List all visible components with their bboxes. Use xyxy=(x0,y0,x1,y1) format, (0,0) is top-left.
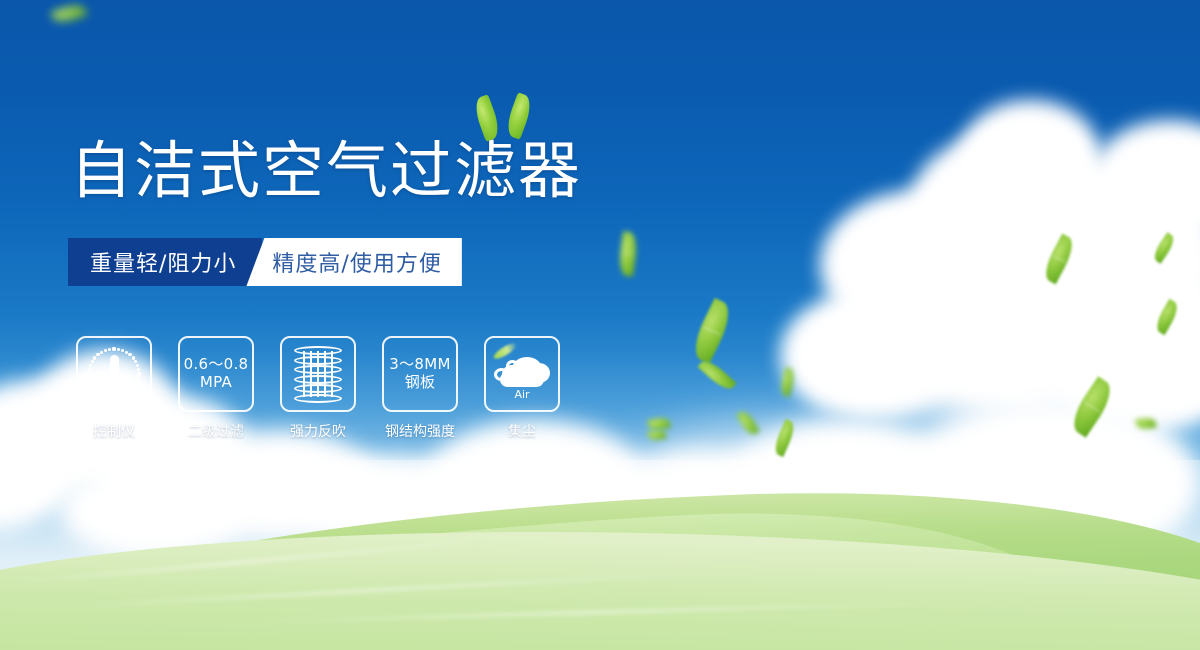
air-label: Air xyxy=(494,388,550,401)
feature-item-dust[interactable]: Air 集尘 xyxy=(484,336,560,441)
air-cloud-icon: Air xyxy=(484,336,560,412)
feature-item-control[interactable]: NO OFF 控制仪 xyxy=(76,336,152,441)
blowback-icon xyxy=(280,336,356,412)
page-title: 自洁式空气过滤器 xyxy=(70,140,582,202)
feature-label: 二级过滤 xyxy=(188,421,244,441)
subtitle-segment-left: 重量轻/阻力小 xyxy=(68,238,262,286)
gauge-off-label: OFF xyxy=(130,394,143,401)
title-block: 自洁式空气过滤器 xyxy=(70,140,582,202)
pressure-value: 0.6～0.8 MPA xyxy=(184,356,249,391)
feature-label: 集尘 xyxy=(508,421,536,441)
steel-plate-icon: 3～8MM 钢板 xyxy=(382,336,458,412)
feature-label: 控制仪 xyxy=(93,421,135,441)
feature-item-steel[interactable]: 3～8MM 钢板 钢结构强度 xyxy=(382,336,458,441)
sprout-leaves-icon xyxy=(470,92,550,144)
gauge-icon: NO OFF xyxy=(76,336,152,412)
steel-plate-value: 3～8MM 钢板 xyxy=(389,356,450,391)
pressure-icon: 0.6～0.8 MPA xyxy=(178,336,254,412)
feature-item-pressure[interactable]: 0.6～0.8 MPA 二级过滤 xyxy=(178,336,254,441)
feature-list: NO OFF 控制仪 0.6～0.8 MPA 二级过滤 强力反吹 xyxy=(76,336,560,441)
subtitle-bar: 重量轻/阻力小 精度高/使用方便 xyxy=(68,238,462,286)
feature-label: 强力反吹 xyxy=(290,421,346,441)
feature-item-blowback[interactable]: 强力反吹 xyxy=(280,336,356,441)
promo-banner: 自洁式空气过滤器 重量轻/阻力小 精度高/使用方便 NO OFF 控制仪 xyxy=(0,0,1200,650)
feature-label: 钢结构强度 xyxy=(385,421,455,441)
subtitle-segment-right: 精度高/使用方便 xyxy=(246,238,461,286)
